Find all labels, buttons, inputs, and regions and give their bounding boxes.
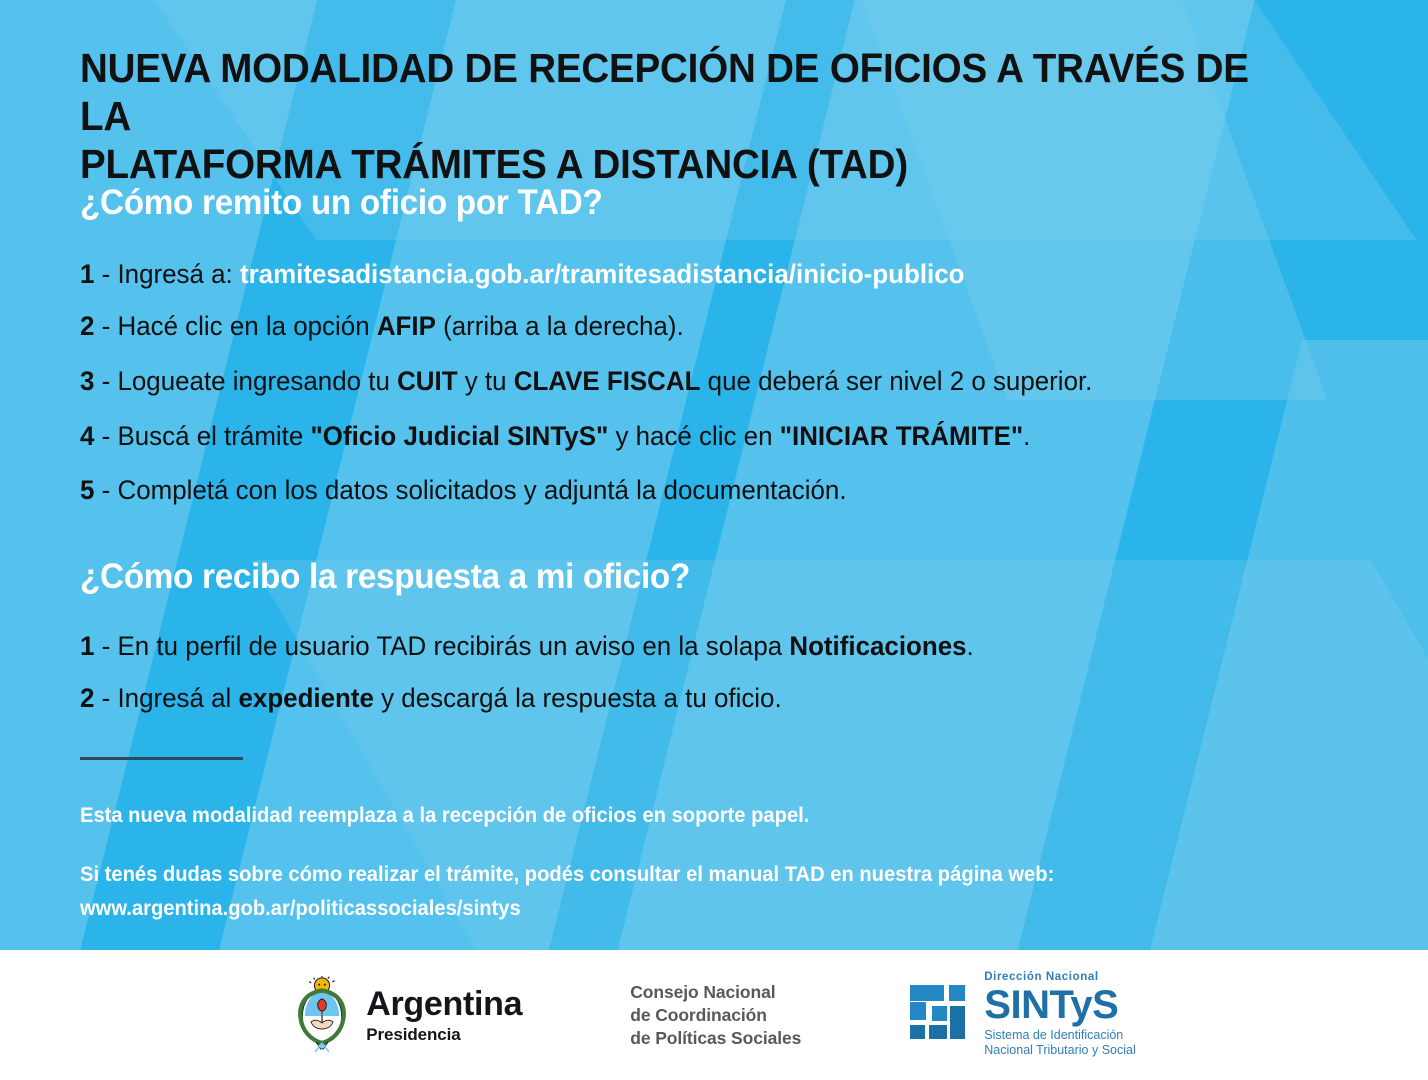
poster: NUEVA MODALIDAD DE RECEPCIÓN DE OFICIOS … bbox=[0, 0, 1428, 1080]
send-step-3-number: 3 bbox=[80, 366, 94, 396]
note-manual-help: Si tenés dudas sobre cómo realizar el tr… bbox=[80, 862, 1054, 888]
send-step-5: 5 - Completá con los datos solicitados y… bbox=[80, 474, 1328, 506]
receive-step-1-bold-notificaciones: Notificaciones bbox=[789, 631, 966, 661]
send-step-3-dash: - bbox=[94, 366, 117, 396]
logo-consejo-nacional: Consejo Nacional de Coordinación de Polí… bbox=[630, 981, 801, 1050]
send-step-4-bold-tramite-name: "Oficio Judicial SINTyS" bbox=[311, 421, 609, 451]
argentina-coat-of-arms-icon bbox=[292, 976, 352, 1054]
send-step-2: 2 - Hacé clic en la opción AFIP (arriba … bbox=[80, 310, 1328, 342]
send-step-2-dash: - bbox=[94, 311, 117, 341]
receive-step-2-dash: - bbox=[94, 683, 117, 713]
section-heading-send: ¿Cómo remito un oficio por TAD? bbox=[80, 183, 603, 223]
send-step-4-number: 4 bbox=[80, 421, 94, 451]
sintys-wordmark: Dirección Nacional SINTyS Sistema de Ide… bbox=[984, 972, 1135, 1058]
send-step-4: 4 - Buscá el trámite "Oficio Judicial SI… bbox=[80, 420, 1328, 452]
send-step-3-bold-cuit: CUIT bbox=[397, 366, 457, 396]
poster-content: NUEVA MODALIDAD DE RECEPCIÓN DE OFICIOS … bbox=[0, 0, 1428, 950]
sintys-mosaic-icon bbox=[909, 984, 971, 1046]
consejo-line-3: de Políticas Sociales bbox=[630, 1027, 801, 1050]
send-step-1: 1 - Ingresá a: tramitesadistancia.gob.ar… bbox=[80, 258, 1328, 290]
tad-url-link[interactable]: tramitesadistancia.gob.ar/tramitesadista… bbox=[240, 259, 965, 289]
send-step-3-text-before: Logueate ingresando tu bbox=[117, 366, 397, 396]
send-step-2-bold-afip: AFIP bbox=[377, 311, 436, 341]
send-step-5-text: Completá con los datos solicitados y adj… bbox=[117, 475, 846, 505]
send-step-3-bold-clave-fiscal: CLAVE FISCAL bbox=[514, 366, 701, 396]
receive-step-1: 1 - En tu perfil de usuario TAD recibirá… bbox=[80, 630, 1328, 662]
section-heading-receive: ¿Cómo recibo la respuesta a mi oficio? bbox=[80, 557, 690, 597]
horizontal-divider bbox=[80, 757, 243, 760]
footer-logos: Argentina Presidencia Consejo Nacional d… bbox=[292, 972, 1136, 1058]
send-step-3-text-after: que deberá ser nivel 2 o superior. bbox=[700, 366, 1092, 396]
sintys-tagline: Sistema de Identificación Nacional Tribu… bbox=[984, 1028, 1135, 1058]
send-step-2-text-after: (arriba a la derecha). bbox=[436, 311, 684, 341]
consejo-line-2: de Coordinación bbox=[630, 1004, 801, 1027]
receive-step-2: 2 - Ingresá al expediente y descargá la … bbox=[80, 682, 1328, 714]
consejo-line-1: Consejo Nacional bbox=[630, 981, 801, 1004]
receive-step-2-bold-expediente: expediente bbox=[239, 683, 374, 713]
receive-step-1-text-after: . bbox=[967, 631, 974, 661]
sintys-tagline-line-1: Sistema de Identificación bbox=[984, 1028, 1135, 1043]
footer-bar: Argentina Presidencia Consejo Nacional d… bbox=[0, 950, 1428, 1080]
page-title-line2-prefix: PLATAFORMA bbox=[80, 141, 351, 187]
send-step-4-text-after: . bbox=[1023, 421, 1030, 451]
receive-step-2-text-before: Ingresá al bbox=[117, 683, 238, 713]
receive-step-2-number: 2 bbox=[80, 683, 94, 713]
send-step-1-number: 1 bbox=[80, 259, 94, 289]
argentina-subtitle: Presidencia bbox=[366, 1026, 522, 1043]
send-step-2-text-before: Hacé clic en la opción bbox=[117, 311, 376, 341]
logo-sintys: Dirección Nacional SINTyS Sistema de Ide… bbox=[909, 972, 1135, 1058]
sintys-tagline-line-2: Nacional Tributario y Social bbox=[984, 1043, 1135, 1058]
argentina-name: Argentina bbox=[366, 987, 522, 1021]
note-replacement-paper: Esta nueva modalidad reemplaza a la rece… bbox=[80, 803, 809, 829]
receive-step-1-dash: - bbox=[94, 631, 117, 661]
page-title: NUEVA MODALIDAD DE RECEPCIÓN DE OFICIOS … bbox=[80, 44, 1293, 188]
receive-step-1-number: 1 bbox=[80, 631, 94, 661]
note-website-url[interactable]: www.argentina.gob.ar/politicassociales/s… bbox=[80, 896, 521, 922]
sintys-name: SINTyS bbox=[984, 985, 1135, 1025]
receive-step-1-text-before: En tu perfil de usuario TAD recibirás un… bbox=[117, 631, 789, 661]
send-step-5-number: 5 bbox=[80, 475, 94, 505]
page-title-line1: NUEVA MODALIDAD DE RECEPCIÓN DE OFICIOS … bbox=[80, 45, 1249, 139]
send-step-4-bold-iniciar-tramite: "INICIAR TRÁMITE" bbox=[780, 421, 1023, 451]
send-step-3: 3 - Logueate ingresando tu CUIT y tu CLA… bbox=[80, 365, 1328, 397]
send-step-4-text-mid: y hacé clic en bbox=[608, 421, 779, 451]
send-step-5-dash: - bbox=[94, 475, 117, 505]
send-step-3-text-mid: y tu bbox=[458, 366, 514, 396]
argentina-wordmark: Argentina Presidencia bbox=[366, 987, 522, 1043]
page-title-line2-emphasis: TRÁMITES A DISTANCIA (TAD) bbox=[351, 141, 908, 187]
receive-step-2-text-after: y descargá la respuesta a tu oficio. bbox=[374, 683, 782, 713]
send-step-1-text: Ingresá a: bbox=[117, 259, 239, 289]
send-step-1-dash: - bbox=[94, 259, 117, 289]
send-step-4-dash: - bbox=[94, 421, 117, 451]
send-step-2-number: 2 bbox=[80, 311, 94, 341]
send-step-4-text-before: Buscá el trámite bbox=[117, 421, 310, 451]
logo-argentina-presidencia: Argentina Presidencia bbox=[292, 976, 522, 1054]
